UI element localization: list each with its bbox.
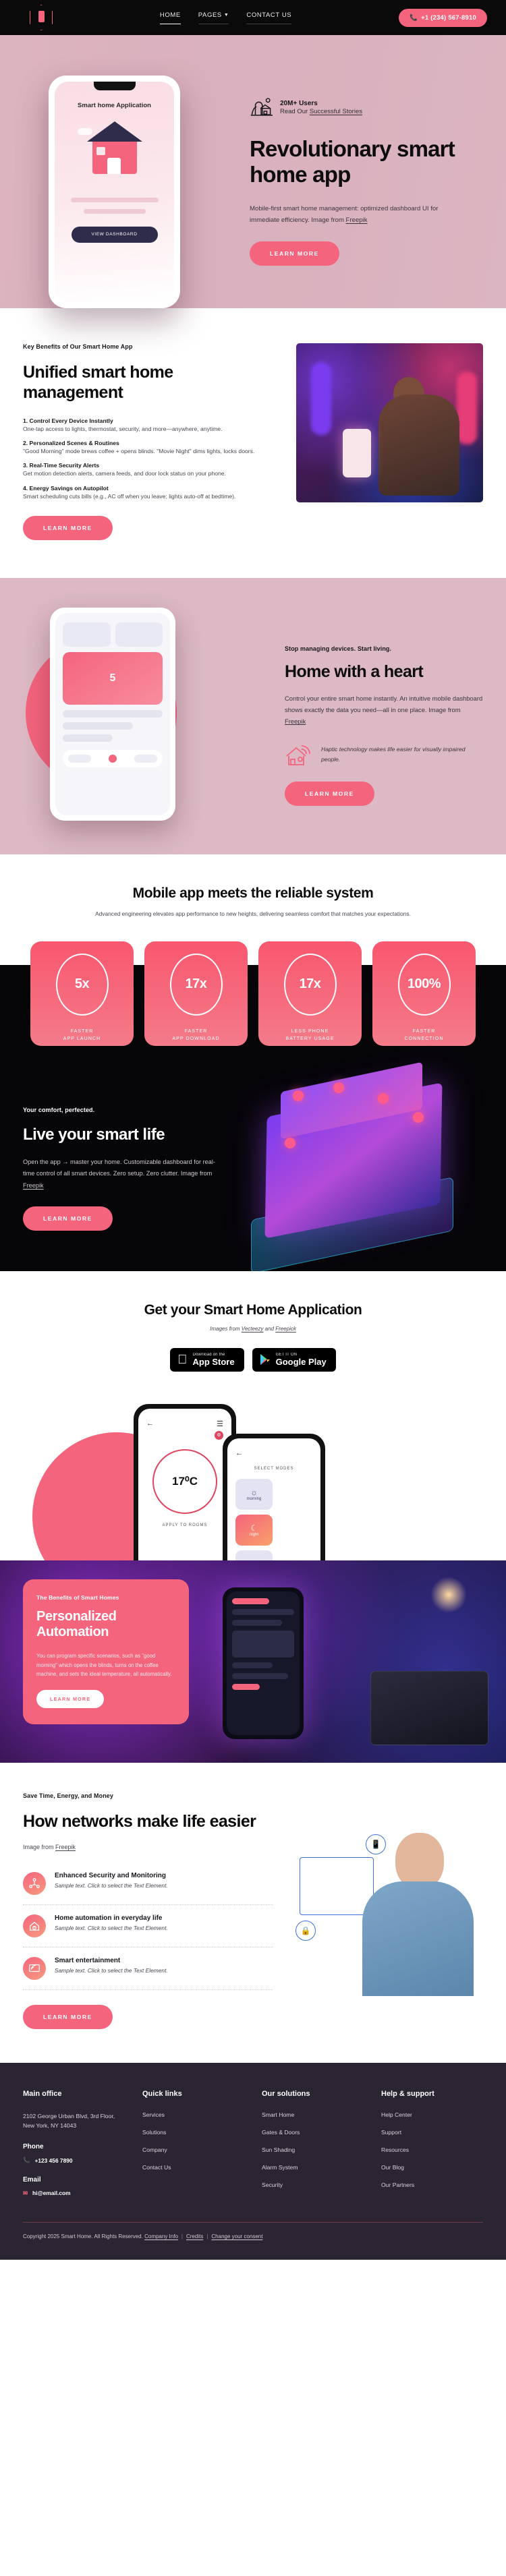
benefit-item-title: 3. Real-Time Security Alerts (23, 462, 276, 469)
footer-phone-heading: Phone (23, 2143, 125, 2150)
stats-section: Mobile app meets the reliable system Adv… (0, 854, 506, 1046)
hexagon-home-logo-icon (30, 5, 53, 30)
copyright-text: Copyright 2025 Smart Home. All Rights Re… (23, 2233, 143, 2240)
successful-stories-link[interactable]: Successful Stories (310, 108, 362, 115)
apple-icon:  (177, 1353, 187, 1366)
footer-address: 2102 George Urban Blvd, 3rd Floor, New Y… (23, 2111, 125, 2131)
nav-item-contact-label: CONTACT US (246, 11, 291, 19)
footer-column-quick-links: Quick links Services Solutions Company C… (142, 2090, 244, 2199)
google-play-icon (260, 1353, 271, 1366)
footer-email-value: hi@email.com (32, 2190, 71, 2196)
benefit-item-body: One-tap access to lights, thermostat, se… (23, 424, 276, 434)
placeholder-bar (71, 198, 159, 202)
house-tree-icon (250, 97, 273, 117)
smart-life-section: Your comfort, perfected. Live your smart… (0, 1046, 506, 1271)
heart-paragraph: Control your entire smart home instantly… (285, 693, 483, 728)
footer-link-alarm-system[interactable]: Alarm System (262, 2164, 364, 2171)
stats-subtitle: Advanced engineering elevates app perfor… (0, 910, 506, 917)
site-footer: Main office 2102 George Urban Blvd, 3rd … (0, 2063, 506, 2260)
stat-label: FASTER APP LAUNCH (63, 1028, 101, 1043)
smart-home-power-icon (23, 1914, 46, 1937)
heart-title: Home with a heart (285, 662, 483, 682)
footer-link-sun-shading[interactable]: Sun Shading (262, 2146, 364, 2153)
store-badges:  Download on the App Store GET IT ON Go… (0, 1348, 506, 1372)
get-app-subtitle: Images from Vecteezy and Freepick (0, 1326, 506, 1332)
stat-card: 17x LESS PHONE BATTERY USAGE (258, 941, 362, 1046)
network-feature-body: Sample text. Click to select the Text El… (55, 1882, 168, 1889)
get-app-sub-mid: and (263, 1326, 275, 1332)
footer-link-security[interactable]: Security (262, 2182, 364, 2188)
networks-section: Save Time, Energy, and Money How network… (0, 1763, 506, 2063)
stat-value: 100% (398, 954, 451, 1016)
automation-eyebrow: The Benefits of Smart Homes (36, 1594, 175, 1601)
phone-screen-title: Smart home Application (78, 102, 151, 111)
benefit-item-title: 4. Energy Savings on Autopilot (23, 485, 276, 492)
google-play-badge[interactable]: GET IT ON Google Play (252, 1348, 336, 1372)
temperature-value: 17⁰C (152, 1449, 217, 1514)
footer-copyright: Copyright 2025 Smart Home. All Rights Re… (23, 2223, 483, 2260)
footer-column-our-solutions: Our solutions Smart Home Gates & Doors S… (262, 2090, 364, 2199)
google-play-badge-large: Google Play (276, 1357, 327, 1367)
footer-email-heading: Email (23, 2176, 125, 2184)
stats-title: Mobile app meets the reliable system (0, 885, 506, 902)
footer-link-our-blog[interactable]: Our Blog (381, 2164, 483, 2171)
benefit-item-body: Get motion detection alerts, camera feed… (23, 469, 276, 478)
footer-link-support[interactable]: Support (381, 2129, 483, 2136)
smartlife-freepik-link[interactable]: Freepik (23, 1182, 44, 1189)
smartlife-learn-more-button[interactable]: LEARN MORE (23, 1206, 113, 1231)
arrow-left-icon[interactable]: ← (235, 1449, 243, 1457)
footer-link-gates-doors[interactable]: Gates & Doors (262, 2129, 364, 2136)
networks-source: Image from Freepik (23, 1844, 273, 1850)
networks-freepik-link[interactable]: Freepik (55, 1844, 76, 1850)
footer-heading: Quick links (142, 2090, 244, 2098)
networks-eyebrow: Save Time, Energy, and Money (23, 1792, 273, 1799)
stat-card: 17x FASTER APP DOWNLOAD (144, 941, 248, 1046)
site-logo[interactable] (30, 5, 53, 30)
landing-page: HOME PAGES ▼ CONTACT US 📞 +1 (234) 567-8… (0, 0, 506, 2260)
benefits-title: Unified smart home management (23, 362, 276, 403)
header-phone-label: +1 (234) 567-8910 (421, 14, 476, 22)
get-app-section: Get your Smart Home Application Images f… (0, 1271, 506, 1560)
placeholder-bar (84, 209, 146, 214)
nav-item-contact-us[interactable]: CONTACT US (246, 11, 291, 24)
select-modes-label: SELECT MODES (235, 1467, 312, 1471)
app-store-badge-large: App Store (192, 1357, 234, 1367)
network-feature-item[interactable]: Enhanced Security and Monitoring Sample … (23, 1863, 273, 1905)
gear-icon[interactable]: ⚙ (215, 1431, 223, 1440)
top-navbar: HOME PAGES ▼ CONTACT US 📞 +1 (234) 567-8… (0, 0, 506, 35)
nav-links: HOME PAGES ▼ CONTACT US (160, 11, 291, 24)
network-feature-title: Home automation in everyday life (55, 1914, 168, 1922)
heart-learn-more-button[interactable]: LEARN MORE (285, 782, 374, 806)
footer-heading: Help & support (381, 2090, 483, 2098)
network-feature-body: Sample text. Click to select the Text El… (55, 1967, 168, 1974)
automation-section: The Benefits of Smart Homes Personalized… (0, 1560, 506, 1763)
networks-title: How networks make life easier (23, 1811, 273, 1832)
haptic-note: Haptic technology makes life easier for … (285, 742, 483, 767)
benefit-item-title: 1. Control Every Device Instantly (23, 417, 276, 424)
phone-notch (94, 82, 136, 90)
stat-label: FASTER APP DOWNLOAD (172, 1028, 219, 1043)
stat-card: 5x FASTER APP LAUNCH (30, 941, 134, 1046)
thermostat-phone-mockup: ← ☰ ⚙ 17⁰C APPLY TO ROOMS (134, 1404, 236, 1586)
phone-screen-cta[interactable]: VIEW DASHBOARD (72, 227, 158, 243)
phone-icon: 📞 (410, 14, 418, 22)
benefits-section: Key Benefits of Our Smart Home App Unifi… (0, 308, 506, 578)
hero-paragraph: Mobile-first smart home management: opti… (250, 203, 466, 227)
footer-heading: Main office (23, 2090, 125, 2098)
smart-tv-icon (23, 1957, 46, 1980)
benefits-learn-more-button[interactable]: LEARN MORE (23, 516, 113, 540)
users-badge: 20M+ Users Read Our Successful Stories (250, 97, 483, 117)
phone-icon: 📞 (23, 2157, 30, 2164)
benefit-item-title: 2. Personalized Scenes & Routines (23, 440, 276, 446)
network-feature-title: Enhanced Security and Monitoring (55, 1872, 168, 1879)
benefits-photo (296, 343, 483, 502)
footer-link-smart-home[interactable]: Smart Home (262, 2111, 364, 2118)
hero-title: Revolutionary smart home app (250, 136, 483, 188)
stat-value: 17x (170, 954, 223, 1016)
envelope-icon: ✉ (23, 2190, 28, 2196)
smartphone-icon: 📱 (366, 1834, 386, 1854)
chevron-down-icon: ▼ (224, 13, 229, 18)
heart-section: 5 Stop managing devices. Start living. H… (0, 578, 506, 854)
apply-to-rooms-label: APPLY TO ROOMS (146, 1523, 223, 1527)
automation-title: Personalized Automation (36, 1609, 175, 1641)
smartlife-title: Live your smart life (23, 1125, 246, 1144)
automation-card: The Benefits of Smart Homes Personalized… (23, 1579, 189, 1724)
footer-link-contact-us[interactable]: Contact Us (142, 2164, 244, 2171)
house-illustration (75, 120, 154, 187)
google-play-badge-small: GET IT ON (276, 1353, 327, 1357)
mode-cell-morning[interactable]: ☼morning (235, 1479, 273, 1510)
app-store-badge-small: Download on the (192, 1353, 234, 1357)
users-sub-prefix: Read Our (280, 108, 310, 115)
footer-link-help-center[interactable]: Help Center (381, 2111, 483, 2118)
stat-label: LESS PHONE BATTERY USAGE (285, 1028, 334, 1043)
hamburger-icon[interactable]: ☰ (217, 1419, 223, 1428)
haptic-note-text: Haptic technology makes life easier for … (321, 744, 483, 764)
footer-link-company[interactable]: Company (142, 2146, 244, 2153)
hero-phone-mockup: Smart home Application VIEW DASHBOARD (49, 76, 180, 308)
hero-visual: Smart home Application VIEW DASHBOARD (0, 62, 250, 268)
get-app-sub-prefix: Images from (210, 1326, 242, 1332)
footer-column-main-office: Main office 2102 George Urban Blvd, 3rd … (23, 2090, 125, 2199)
footer-phone-value: +123 456 7890 (34, 2157, 72, 2164)
app-store-badge[interactable]:  Download on the App Store (170, 1348, 244, 1372)
users-count: 20M+ Users (280, 99, 362, 108)
stats-cards: 5x FASTER APP LAUNCH 17x FASTER APP DOWN… (0, 917, 506, 1046)
footer-link-our-partners[interactable]: Our Partners (381, 2182, 483, 2188)
network-feature-body: Sample text. Click to select the Text El… (55, 1925, 168, 1931)
stat-card: 100% FASTER CONNECTION (372, 941, 476, 1046)
sun-icon: ☼ (250, 1488, 258, 1497)
hero-copy: 20M+ Users Read Our Successful Stories R… (250, 62, 506, 268)
laptop-illustration (370, 1671, 488, 1745)
smartlife-paragraph-text: Open the app → master your home. Customi… (23, 1159, 215, 1177)
network-nodes-icon (23, 1872, 46, 1895)
networks-learn-more-button[interactable]: LEARN MORE (23, 2005, 113, 2029)
automation-learn-more-button[interactable]: LEARN MORE (36, 1690, 104, 1708)
footer-phone[interactable]: 📞 +123 456 7890 (23, 2157, 125, 2164)
phone-metric-value: 5 (63, 652, 163, 705)
mode-label: night (250, 1533, 258, 1537)
nav-item-home[interactable]: HOME (160, 11, 181, 24)
mode-cell-night[interactable]: ☾night (235, 1515, 273, 1546)
heart-freepik-link[interactable]: Freepik (285, 718, 306, 725)
benefit-item-body: "Good Morning" mode brews coffee + opens… (23, 446, 276, 456)
arrow-left-icon[interactable]: ← (146, 1419, 154, 1428)
app-screens-mockup: ← ☰ ⚙ 17⁰C APPLY TO ROOMS ← SELECT MODES… (0, 1392, 506, 1560)
heart-eyebrow: Stop managing devices. Start living. (285, 645, 483, 652)
users-subtitle: Read Our Successful Stories (280, 108, 362, 115)
footer-email[interactable]: ✉ hi@email.com (23, 2190, 125, 2196)
nav-item-pages-label: PAGES (198, 11, 222, 19)
network-feature-title: Smart entertainment (55, 1957, 168, 1964)
header-phone-button[interactable]: 📞 +1 (234) 567-8910 (399, 9, 487, 27)
moon-icon: ☾ (250, 1523, 258, 1533)
smartlife-eyebrow: Your comfort, perfected. (23, 1107, 246, 1113)
credits-link[interactable]: Credits (186, 2233, 203, 2240)
benefit-item-body: Smart scheduling cuts bills (e.g., AC of… (23, 492, 276, 501)
networks-source-prefix: Image from (23, 1844, 55, 1850)
stat-value: 17x (284, 954, 337, 1016)
stat-value: 5x (56, 954, 109, 1016)
lock-icon: 🔒 (296, 1921, 316, 1941)
footer-column-help-support: Help & support Help Center Support Resou… (381, 2090, 483, 2199)
freepick-link[interactable]: Freepick (275, 1326, 296, 1332)
network-feature-item[interactable]: Smart entertainment Sample text. Click t… (23, 1948, 273, 1990)
automation-phone-mockup (223, 1587, 304, 1739)
footer-heading: Our solutions (262, 2090, 364, 2098)
benefits-list: 1. Control Every Device Instantly One-ta… (23, 417, 276, 501)
footer-link-solutions[interactable]: Solutions (142, 2129, 244, 2136)
hero-section: Smart home Application VIEW DASHBOARD (0, 35, 506, 308)
benefits-eyebrow: Key Benefits of Our Smart Home App (23, 343, 276, 350)
nav-item-pages[interactable]: PAGES ▼ (198, 11, 229, 24)
stat-label: FASTER CONNECTION (404, 1028, 443, 1043)
smartlife-paragraph: Open the app → master your home. Customi… (23, 1157, 219, 1192)
heart-paragraph-text: Control your entire smart home instantly… (285, 695, 482, 713)
nav-item-home-label: HOME (160, 11, 181, 19)
dashboard-phone-mockup: 5 (50, 608, 175, 821)
footer-link-resources[interactable]: Resources (381, 2146, 483, 2153)
change-consent-link[interactable]: Change your consent (211, 2233, 262, 2240)
networks-photo: 📱 🔊 🔒 (290, 1792, 483, 1995)
automation-paragraph: You can program specific scenarios, such… (36, 1651, 175, 1679)
isometric-house-illustration (246, 1073, 483, 1231)
hero-learn-more-button[interactable]: LEARN MORE (250, 241, 339, 266)
smart-home-signal-icon (285, 742, 312, 767)
hero-paragraph-text: Mobile-first smart home management: opti… (250, 205, 438, 225)
network-feature-item[interactable]: Home automation in everyday life Sample … (23, 1905, 273, 1948)
company-info-link[interactable]: Company Info (144, 2233, 178, 2240)
vecteezy-link[interactable]: Vecteezy (242, 1326, 264, 1332)
footer-link-services[interactable]: Services (142, 2111, 244, 2118)
get-app-title: Get your Smart Home Application (0, 1302, 506, 1318)
hero-freepik-link[interactable]: Freepik (346, 216, 368, 224)
mode-label: morning (247, 1497, 262, 1501)
